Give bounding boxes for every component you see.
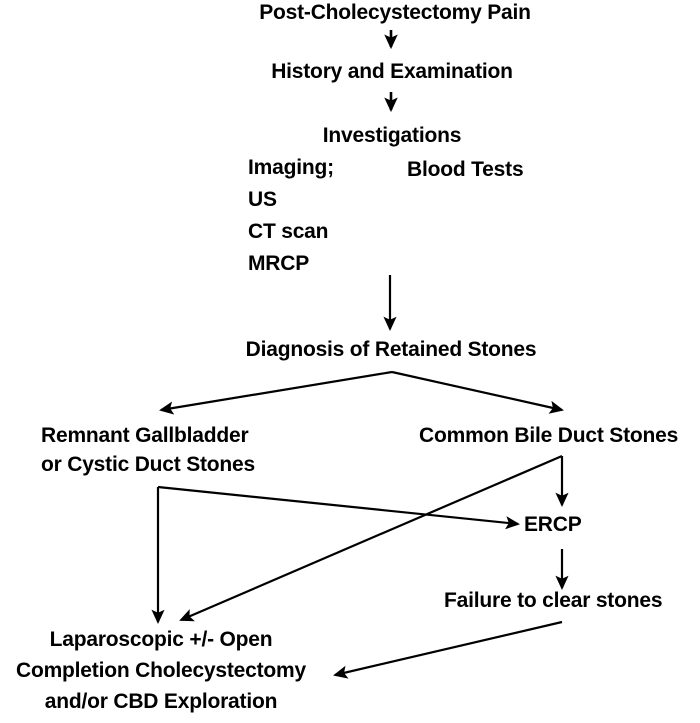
node-post-cholecystectomy-pain: Post-Cholecystectomy Pain <box>259 0 531 26</box>
node-history-and-examination: History and Examination <box>271 59 513 85</box>
node-common-bile-duct-stones: Common Bile Duct Stones <box>419 423 678 449</box>
node-imaging-heading: Imaging; <box>248 155 334 181</box>
node-blood-tests: Blood Tests <box>407 157 523 183</box>
edge-failure-to-surgery <box>335 622 562 675</box>
node-failure-to-clear-stones: Failure to clear stones <box>444 588 662 614</box>
node-surgery-line1: Laparoscopic +/- Open <box>50 627 273 653</box>
node-surgery-line2: Completion Cholecystectomy <box>16 658 306 684</box>
edge-diagnosis-to-remnant <box>161 372 392 410</box>
edge-diagnosis-to-cbd <box>392 372 562 410</box>
node-ercp: ERCP <box>524 512 582 538</box>
edge-remnant-to-ercp <box>158 487 518 524</box>
node-imaging-mrcp: MRCP <box>248 251 309 277</box>
node-investigations: Investigations <box>323 123 461 149</box>
node-diagnosis-of-retained-stones: Diagnosis of Retained Stones <box>246 337 537 363</box>
flowchart-diagram: Post-Cholecystectomy Pain History and Ex… <box>0 0 700 723</box>
node-remnant-gallbladder-line1: Remnant Gallbladder <box>41 423 248 449</box>
node-surgery-line3: and/or CBD Exploration <box>45 689 277 715</box>
node-imaging-us: US <box>248 187 277 213</box>
node-imaging-ct-scan: CT scan <box>248 219 328 245</box>
node-remnant-gallbladder-line2: or Cystic Duct Stones <box>41 452 255 478</box>
